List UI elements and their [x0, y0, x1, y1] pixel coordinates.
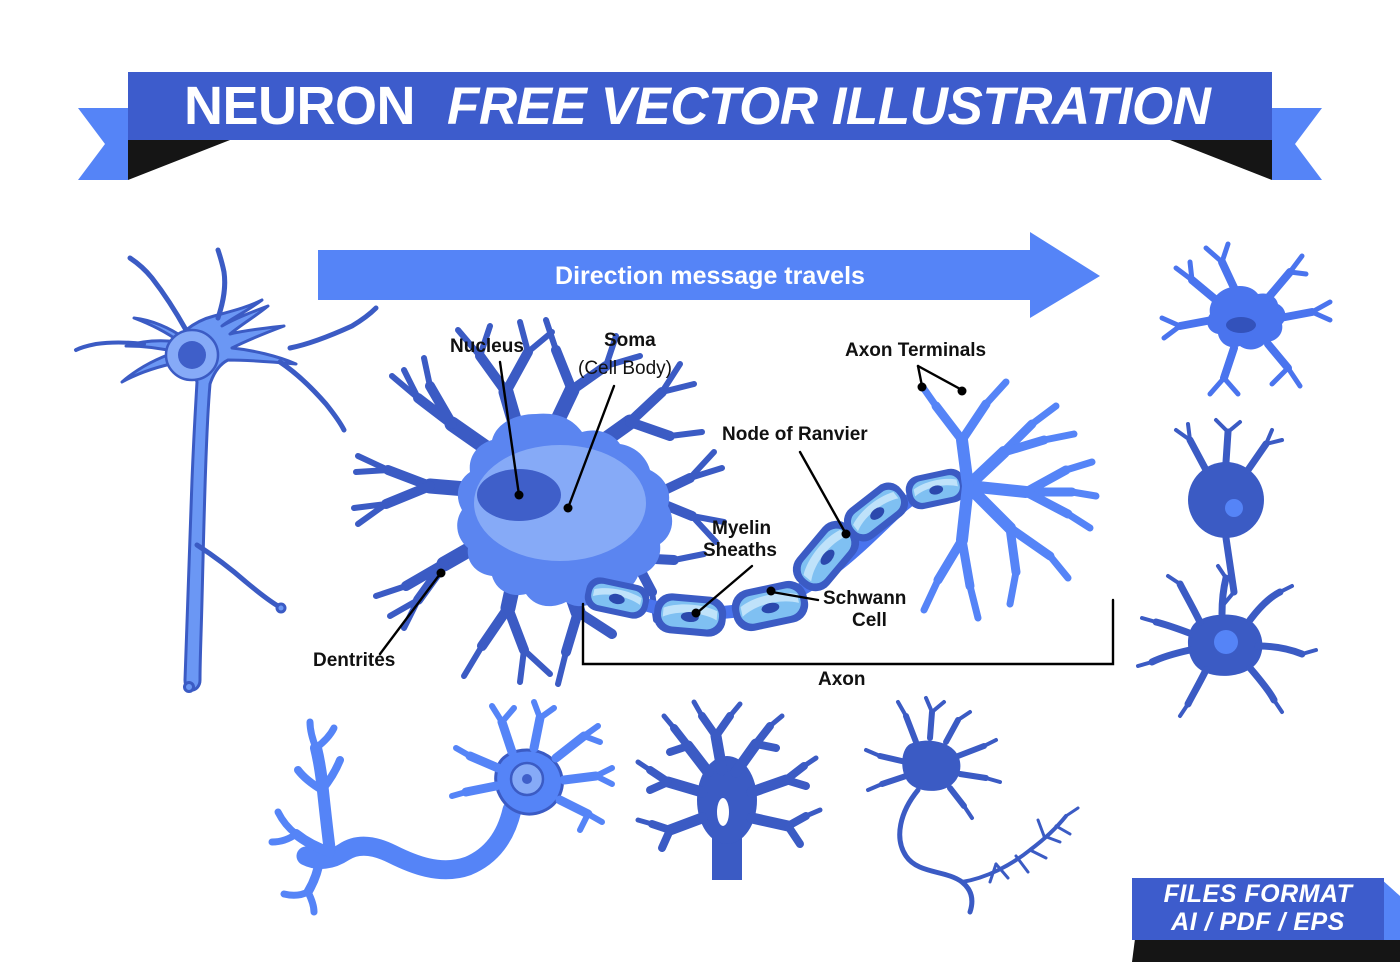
badge-line1: FILES FORMAT — [1164, 880, 1355, 908]
illustration-canvas: NEURON FREE VECTOR ILLUSTRATION Directio… — [0, 0, 1400, 980]
files-format-badge: FILES FORMAT AI / PDF / EPS — [0, 0, 1400, 980]
badge-line2: AI / PDF / EPS — [1170, 908, 1345, 936]
